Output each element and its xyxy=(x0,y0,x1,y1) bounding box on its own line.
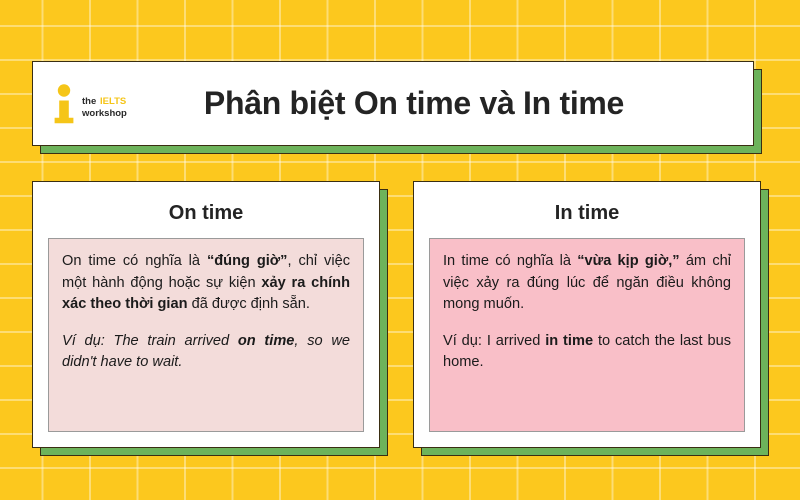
in-time-card: In time In time có nghĩa là “vừa kịp giờ… xyxy=(413,181,761,448)
infographic-canvas: the IELTS workshop Phân biệt On time và … xyxy=(0,0,800,500)
svg-text:IELTS: IELTS xyxy=(100,96,126,107)
in-time-heading: In time xyxy=(429,202,745,224)
page-title: Phân biệt On time và In time xyxy=(145,86,753,121)
header-card: the IELTS workshop Phân biệt On time và … xyxy=(32,61,754,146)
svg-text:workshop: workshop xyxy=(81,108,127,119)
on-time-card: On time On time có nghĩa là “đúng giờ”, … xyxy=(32,181,380,448)
in-time-example: Ví dụ: I arrived in time to catch the la… xyxy=(443,331,731,374)
in-time-definition: In time có nghĩa là “vừa kịp giờ,” ám ch… xyxy=(443,251,731,316)
on-time-definition: On time có nghĩa là “đúng giờ”, chỉ việc… xyxy=(62,251,350,316)
the-ielts-workshop-logo-icon: the IELTS workshop xyxy=(51,82,143,126)
in-time-content-box: In time có nghĩa là “vừa kịp giờ,” ám ch… xyxy=(429,238,745,432)
on-time-heading: On time xyxy=(48,202,364,224)
on-time-example: Ví dụ: The train arrived on time, so we … xyxy=(62,331,350,374)
svg-text:the: the xyxy=(82,96,96,107)
on-time-content-box: On time có nghĩa là “đúng giờ”, chỉ việc… xyxy=(48,238,364,432)
brand-logo: the IELTS workshop xyxy=(49,82,145,126)
